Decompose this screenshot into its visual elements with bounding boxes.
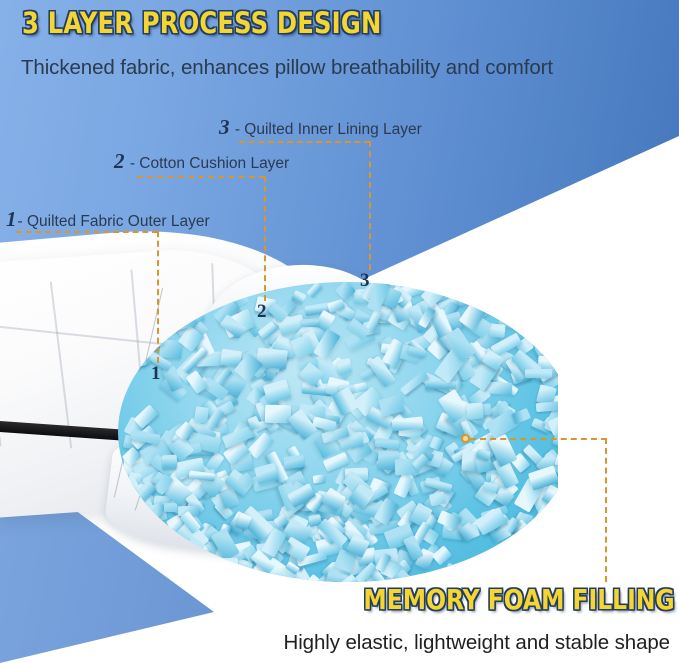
callout-layer-2: 2 - Cotton Cushion Layer: [114, 149, 289, 174]
foam-chip: [284, 455, 305, 469]
page-subtitle: Thickened fabric, enhances pillow breath…: [21, 56, 553, 80]
footer-title: MEMORY FOAM FILLING: [364, 583, 675, 616]
callout-number-1: 1: [6, 207, 18, 231]
callout-number-2: 2: [114, 149, 126, 173]
layer-marker-3: 3: [360, 270, 370, 292]
callout-separator-2: -: [130, 155, 135, 172]
foam-chip: [466, 402, 483, 419]
foam-leader-horizontal: [470, 438, 607, 440]
foam-chip: [163, 503, 177, 512]
memory-foam-fill: [118, 282, 558, 582]
callout-label-2: Cotton Cushion Layer: [139, 155, 289, 172]
layer-marker-2: 2: [257, 301, 267, 323]
callout-label-3: Quilted Inner Lining Layer: [244, 121, 422, 138]
page-title: 3 LAYER PROCESS DESIGN: [22, 6, 381, 40]
foam-chip: [301, 319, 320, 328]
foam-callout-dot: [461, 434, 470, 443]
foam-chip: [337, 358, 352, 374]
callout-layer-1: 1- Quilted Fabric Outer Layer: [6, 207, 210, 232]
foam-chip: [424, 381, 455, 389]
leader-line-3-vertical: [369, 141, 371, 270]
callout-separator-1: -: [18, 213, 23, 230]
layer-marker-1: 1: [151, 363, 161, 385]
foam-chip: [525, 368, 552, 378]
foam-chip: [536, 401, 558, 412]
leader-line-1-vertical: [157, 231, 159, 363]
product-infographic: 1 2 3 3 LAYER PROCESS DESIGN Thickened f…: [0, 0, 679, 663]
callout-label-1: Quilted Fabric Outer Layer: [27, 213, 210, 230]
footer-subtitle: Highly elastic, lightweight and stable s…: [284, 631, 670, 655]
foam-leader-vertical: [605, 438, 607, 582]
foam-chip: [265, 404, 291, 423]
callout-number-3: 3: [219, 115, 231, 139]
foam-chip: [161, 454, 176, 467]
leader-line-2-horizontal: [137, 176, 265, 178]
callout-separator-3: -: [235, 121, 240, 138]
leader-line-3-horizontal: [239, 141, 370, 143]
leader-line-2-vertical: [264, 176, 266, 301]
callout-layer-3: 3 - Quilted Inner Lining Layer: [219, 115, 422, 140]
